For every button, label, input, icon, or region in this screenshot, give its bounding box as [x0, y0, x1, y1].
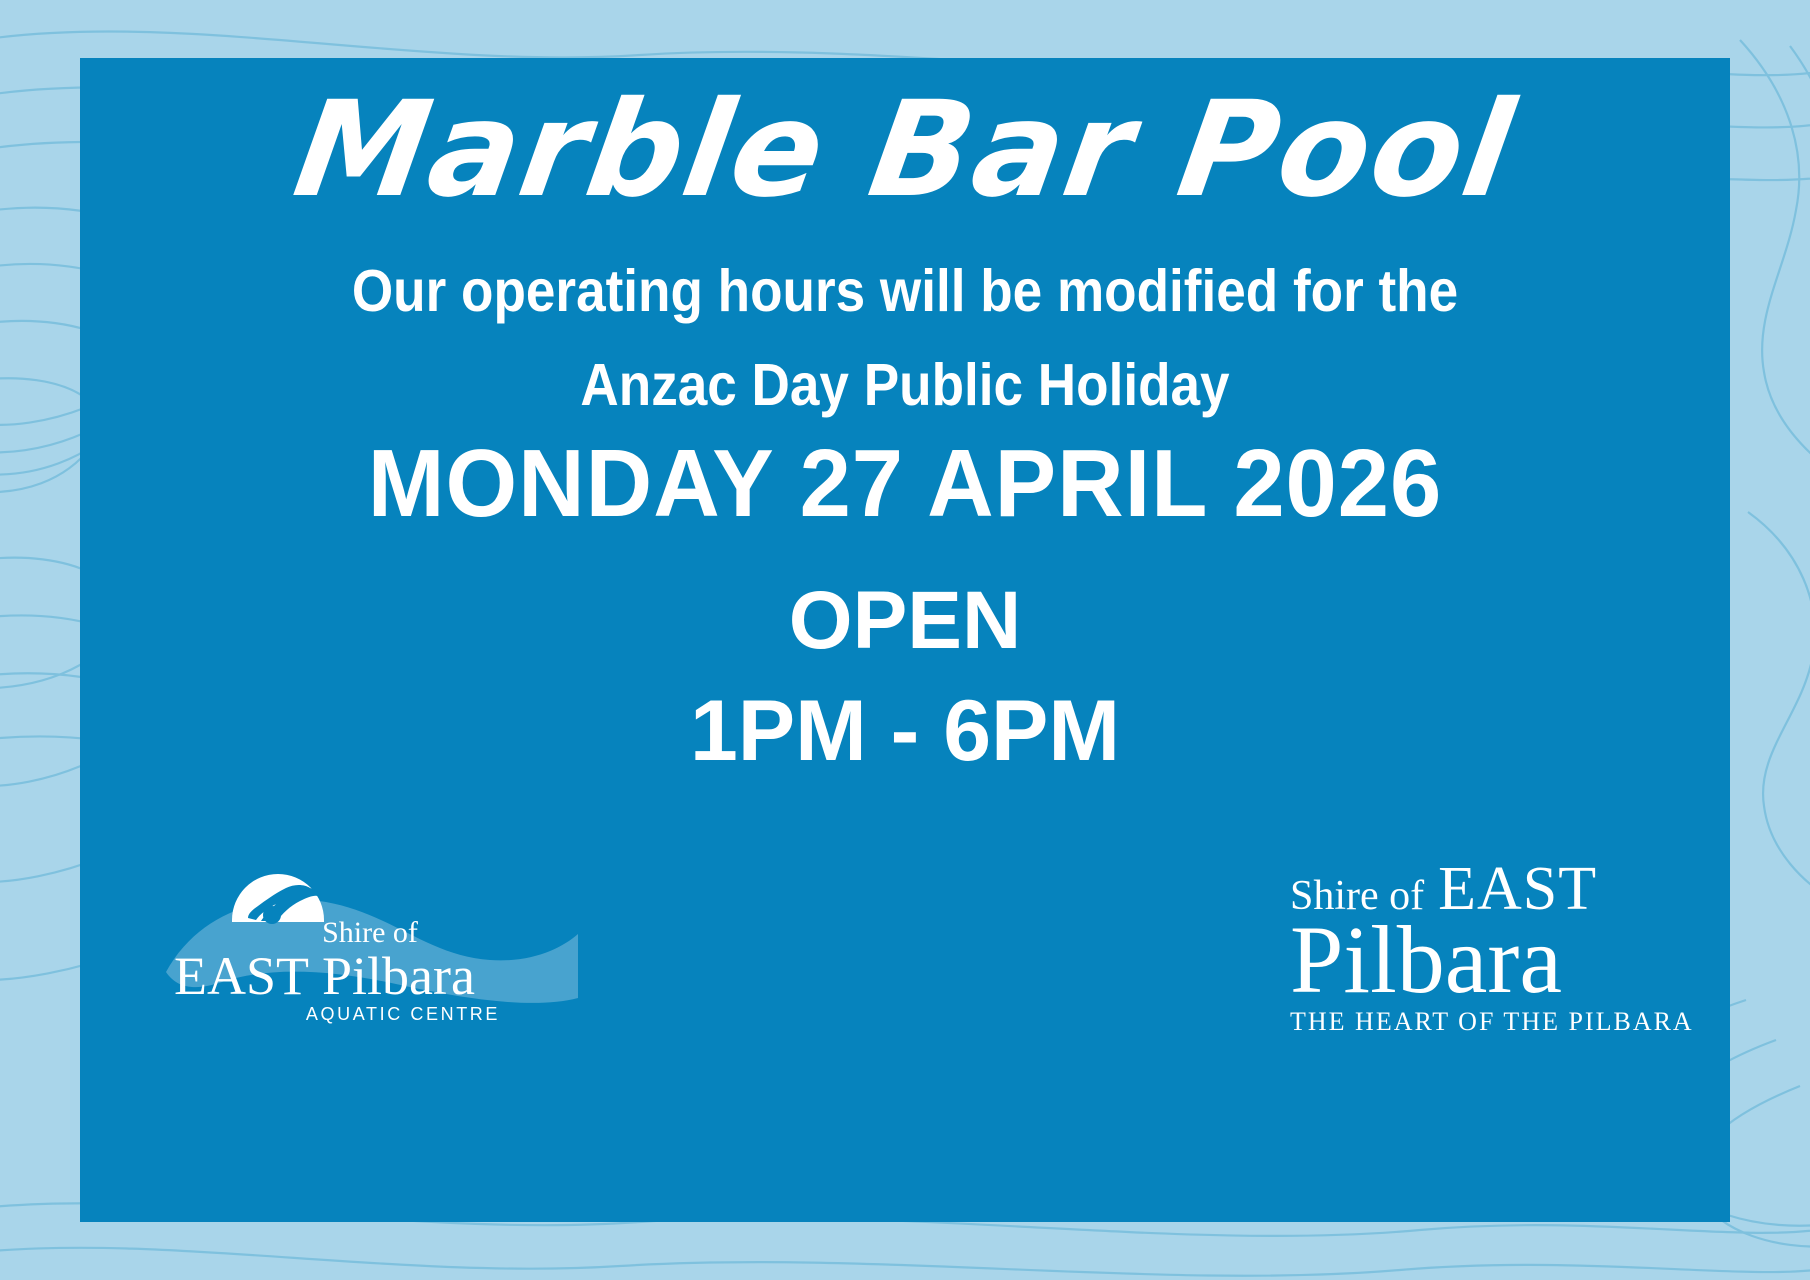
shire-of-east-pilbara-logo: Shire ofEAST Pilbara THE HEART OF THE PI… [1290, 858, 1670, 1008]
aquatic-centre-logo: Shire of EAST Pilbara AQUATIC CENTRE [160, 848, 580, 1028]
poster-panel: Marble Bar Pool Our operating hours will… [80, 58, 1730, 1222]
message-line-1: Our operating hours will be modified for… [163, 260, 1648, 323]
aquatic-pilbara: Pilbara [322, 946, 475, 1006]
holiday-date: MONDAY 27 APRIL 2026 [113, 434, 1697, 535]
aquatic-tagline: AQUATIC CENTRE [306, 1004, 500, 1024]
aquatic-shire-of: Shire of [322, 916, 418, 949]
aquatic-east: EAST [174, 946, 309, 1006]
status-open: OPEN [80, 576, 1730, 666]
message-line-2: Anzac Day Public Holiday [163, 354, 1648, 417]
poster-canvas: Marble Bar Pool Our operating hours will… [0, 0, 1810, 1280]
shire-logo-pilbara: Pilbara [1290, 914, 1670, 1005]
opening-hours: 1PM - 6PM [80, 684, 1730, 779]
shire-logo-tagline: THE HEART OF THE PILBARA [1290, 1007, 1670, 1037]
diver-head-icon [263, 906, 281, 924]
poster-title: Marble Bar Pool [80, 84, 1730, 216]
